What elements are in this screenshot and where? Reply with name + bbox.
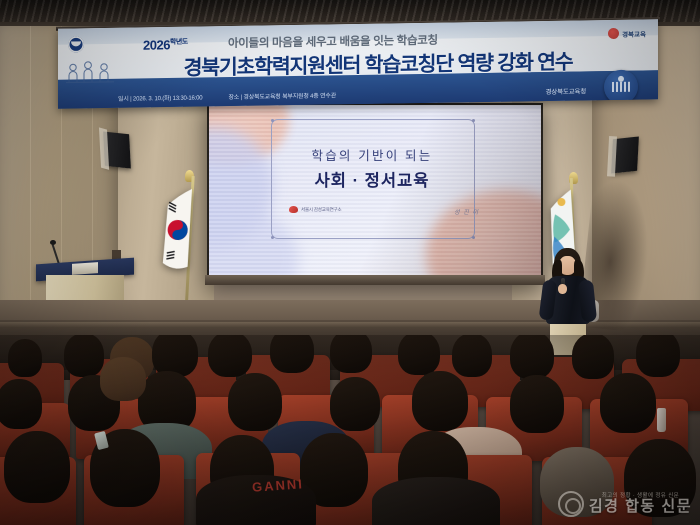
banner-datetime: 일시 | 2026. 3. 10.(화) 13:30-16:00 [118, 92, 202, 102]
watermark: 최고의 정황 · 생활에 정유 신문 김경 합동 신문 [558, 491, 692, 517]
watermark-text: 최고의 정황 · 생활에 정유 신문 김경 합동 신문 [589, 493, 692, 516]
newspaper-seal-icon [558, 491, 584, 517]
water-bottle [657, 408, 666, 432]
banner-year-suffix: 학년도 [170, 39, 188, 46]
podium-nameplate [72, 262, 98, 275]
banner-logo-text: 경북교육 [622, 28, 646, 38]
banner-location: 장소 | 경상북도교육청 북부지원청 4층 연수관 [228, 90, 336, 101]
red-circle-icon [608, 28, 619, 39]
korean-flag-taegeukgi [160, 185, 196, 279]
presenter-arm-right [578, 279, 597, 322]
wall-speaker-left-icon [103, 132, 131, 169]
screen-shadow-overlay [209, 105, 541, 275]
screen-bottom-rail [205, 275, 545, 285]
banner-organization: 경상북도교육청 [546, 85, 586, 96]
watermark-name: 김경 합동 신문 [589, 499, 692, 516]
photograph: 학습의 기반이 되는 사회 · 정서교육 서울시 감성교육연구소 성 진 미 2… [0, 0, 700, 525]
banner-corner-logo: 경북교육 [608, 27, 646, 39]
event-banner: 2026학년도 아이들의 마음을 세우고 배움을 잇는 학습코칭 경북기초학력지… [58, 19, 658, 108]
podium-microphone-icon [50, 240, 56, 245]
wall-speaker-right-icon [611, 137, 639, 174]
presenter-hand [558, 284, 567, 294]
